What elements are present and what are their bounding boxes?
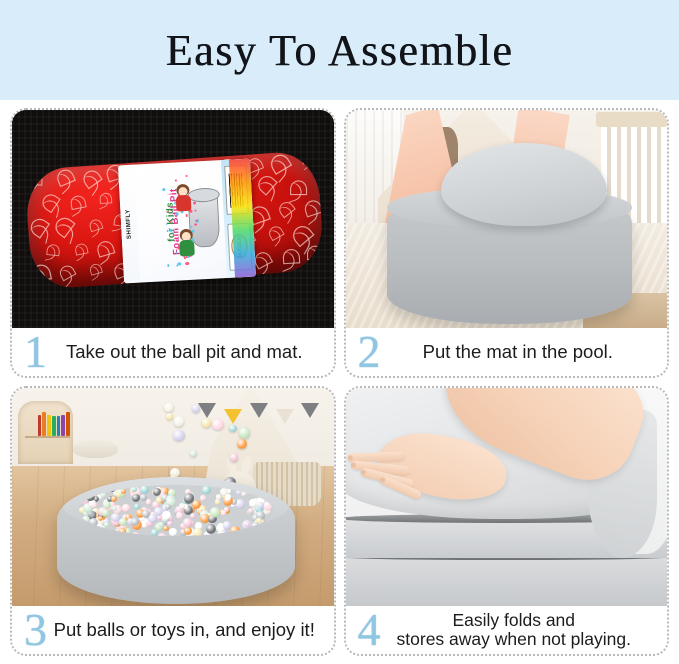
falling-ball — [230, 453, 239, 462]
confetti-ball — [176, 213, 179, 216]
ball — [193, 528, 203, 535]
falling-ball — [192, 404, 201, 413]
ball — [184, 493, 194, 503]
ball — [158, 522, 163, 527]
ball — [263, 501, 273, 511]
confetti-ball — [163, 188, 166, 191]
shelf-board — [25, 436, 70, 438]
ball — [96, 530, 104, 535]
steps-grid: SHIMFLY Foam Ball Pit for Kids 35. — [0, 100, 679, 664]
step-4-photo — [346, 388, 668, 606]
ball — [225, 494, 231, 500]
falling-balls — [153, 397, 249, 489]
bunting-flag-icon — [250, 403, 268, 418]
ball — [104, 522, 109, 527]
confetti-ball — [170, 221, 172, 223]
ball — [146, 499, 152, 505]
ball — [183, 518, 192, 527]
step-4-caption-text: Easily folds and stores away when not pl… — [369, 611, 668, 650]
confetti-ball — [173, 207, 175, 209]
product-label: SHIMFLY Foam Ball Pit for Kids 35. — [118, 159, 256, 283]
ball — [78, 519, 80, 524]
step-card-1[interactable]: SHIMFLY Foam Ball Pit for Kids 35. — [10, 108, 336, 378]
step-1-caption-text: Take out the ball pit and mat. — [49, 342, 334, 362]
fingernail — [379, 476, 386, 483]
step-4-caption-line1: Easily folds and — [369, 611, 660, 630]
ball — [109, 485, 116, 492]
heart-icon — [88, 218, 103, 232]
ball — [157, 533, 167, 536]
book — [47, 415, 51, 436]
ball — [217, 531, 225, 535]
step-1-caption: 1 Take out the ball pit and mat. — [12, 328, 334, 376]
heart-icon — [267, 224, 285, 241]
step-3-photo — [12, 388, 334, 606]
step-number-3: 3 — [12, 607, 49, 653]
ball — [223, 521, 231, 529]
infographic-page: Easy To Assemble SHIMFLY Foam Ball Pit f… — [0, 0, 679, 664]
book — [42, 412, 46, 436]
step-4-caption-line2: stores away when not playing. — [369, 630, 660, 649]
brand-name: SHIMFLY — [126, 209, 134, 239]
step-number-4: 4 — [346, 607, 383, 653]
kid-body — [176, 195, 192, 212]
falling-ball — [166, 413, 173, 420]
ball — [140, 485, 149, 494]
confetti-ball — [175, 251, 177, 253]
falling-ball — [239, 427, 251, 439]
kid-body — [179, 240, 195, 257]
ball — [202, 486, 211, 495]
ball — [190, 513, 196, 519]
heart-icon — [306, 246, 323, 261]
falling-ball — [173, 430, 184, 441]
confetti-ball — [166, 230, 168, 232]
ball — [206, 524, 216, 534]
ball — [86, 493, 95, 502]
ball — [259, 533, 268, 536]
ball-pit-pool — [387, 188, 631, 323]
confetti-ball — [167, 212, 169, 214]
step-card-4[interactable]: 4 Easily folds and stores away when not … — [344, 386, 670, 656]
falling-ball — [164, 403, 173, 412]
heart-icon — [268, 151, 293, 175]
book — [52, 416, 56, 436]
page-title: Easy To Assemble — [166, 25, 514, 76]
heart-icon — [96, 239, 116, 258]
heart-icon — [276, 199, 296, 218]
ball — [236, 489, 242, 495]
ball — [81, 527, 87, 533]
step-3-caption-text: Put balls or toys in, and enjoy it! — [49, 620, 334, 640]
step-2-caption: 2 Put the mat in the pool. — [346, 328, 668, 376]
heart-icon — [55, 167, 76, 187]
confetti-ball — [186, 215, 188, 217]
step-2-caption-text: Put the mat in the pool. — [383, 342, 668, 362]
falling-ball — [174, 416, 185, 427]
ball — [230, 526, 240, 535]
heart-icon — [27, 215, 50, 238]
heart-icon — [74, 243, 88, 256]
floor-plush-toy — [73, 440, 118, 457]
heart-icon — [69, 194, 86, 210]
ball — [131, 532, 140, 536]
book — [66, 412, 70, 435]
ball — [165, 504, 171, 510]
ball — [210, 507, 220, 517]
heart-icon — [39, 192, 61, 214]
book — [61, 415, 65, 436]
ball — [98, 516, 103, 521]
page-header: Easy To Assemble — [0, 0, 679, 100]
step-4-caption: 4 Easily folds and stores away when not … — [346, 606, 668, 654]
ball — [119, 518, 127, 526]
falling-ball — [202, 418, 211, 427]
heart-icon — [30, 263, 52, 283]
confetti-ball — [166, 223, 168, 225]
label-artwork: Foam Ball Pit for Kids — [134, 160, 227, 282]
ball — [122, 504, 130, 512]
ball — [112, 506, 117, 511]
falling-ball — [212, 419, 224, 431]
step-card-2[interactable]: 2 Put the mat in the pool. — [344, 108, 670, 378]
falling-ball — [237, 439, 247, 449]
ball — [119, 528, 126, 535]
step-3-caption: 3 Put balls or toys in, and enjoy it! — [12, 606, 334, 654]
heart-icon — [28, 173, 43, 186]
ball-pit — [57, 477, 295, 603]
ball-pool — [78, 485, 273, 536]
book — [57, 416, 61, 436]
fingernail — [360, 469, 366, 475]
ball — [100, 492, 106, 498]
book — [38, 415, 42, 436]
heart-icon — [47, 244, 61, 256]
heart-icon — [290, 180, 307, 195]
confetti-ball — [178, 263, 181, 266]
folded-layer-bottom — [346, 558, 668, 606]
heart-icon — [299, 150, 315, 165]
ball — [176, 512, 183, 519]
fingernail — [351, 462, 356, 467]
ball — [167, 521, 172, 526]
ball — [132, 487, 137, 492]
books — [38, 412, 70, 436]
step-1-photo: SHIMFLY Foam Ball Pit for Kids 35. — [12, 110, 334, 328]
ball — [142, 510, 150, 518]
step-2-photo — [346, 110, 668, 328]
confetti-ball — [186, 175, 188, 177]
step-number-2: 2 — [346, 329, 383, 375]
label-illustration — [161, 168, 224, 274]
ball — [132, 494, 141, 503]
heart-icon — [100, 192, 113, 203]
heart-icon — [57, 263, 76, 281]
confetti-ball — [168, 194, 170, 196]
confetti-ball — [175, 180, 176, 181]
ball — [200, 495, 206, 501]
ball — [215, 499, 221, 505]
ball — [169, 528, 177, 535]
ball — [102, 509, 110, 517]
confetti-ball — [186, 262, 189, 265]
ball — [111, 496, 117, 502]
falling-ball — [190, 450, 197, 457]
step-card-3[interactable]: 3 Put balls or toys in, and enjoy it! — [10, 386, 336, 656]
heart-icon — [80, 167, 103, 189]
fingernail — [347, 455, 352, 460]
falling-ball — [229, 425, 237, 433]
heart-icon — [289, 222, 315, 247]
step-number-1: 1 — [12, 329, 49, 375]
confetti-ball — [173, 235, 175, 237]
confetti-ball — [168, 265, 170, 267]
ball — [263, 491, 270, 498]
bunting-flag-icon — [276, 409, 294, 424]
confetti-ball — [173, 232, 175, 234]
crib-rail — [596, 112, 667, 127]
bunting-flag-icon — [301, 403, 319, 418]
ball — [250, 531, 258, 536]
